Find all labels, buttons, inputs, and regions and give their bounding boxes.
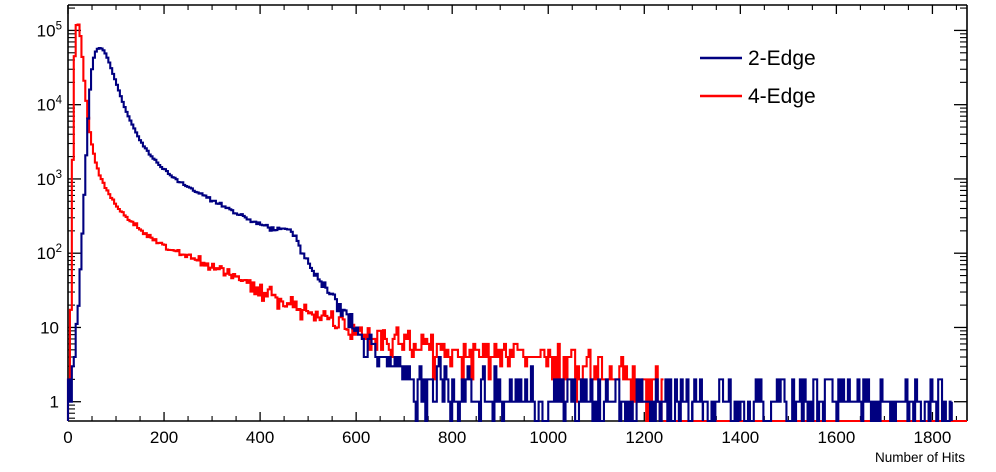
x-tick-label: 1400 — [721, 428, 759, 447]
legend-label-2-edge: 2-Edge — [748, 47, 816, 70]
x-axis-title: Number of Hits — [875, 450, 965, 465]
histogram-plot: 020040060080010001200140016001800 110102… — [0, 0, 996, 472]
legend-label-4-edge: 4-Edge — [748, 85, 816, 108]
x-tick-label: 600 — [342, 428, 370, 447]
x-tick-label: 200 — [150, 428, 178, 447]
x-tick-label: 1000 — [529, 428, 567, 447]
chart-canvas: 020040060080010001200140016001800 110102… — [0, 0, 996, 472]
y-tick-label: 1 — [50, 393, 59, 412]
y-tick-label: 10 — [40, 318, 59, 337]
x-tick-label: 1600 — [817, 428, 855, 447]
x-tick-label: 400 — [246, 428, 274, 447]
x-tick-label: 0 — [63, 428, 72, 447]
x-tick-label: 1800 — [914, 428, 952, 447]
x-tick-label: 800 — [438, 428, 466, 447]
x-tick-label: 1200 — [625, 428, 663, 447]
